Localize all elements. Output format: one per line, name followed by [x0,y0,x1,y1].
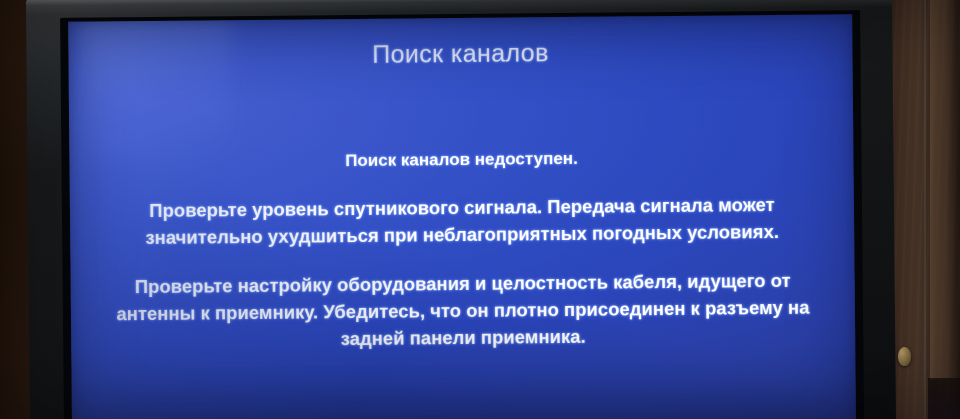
door-knob-icon [898,347,911,366]
message-body: Поиск каналов недоступен. Проверьте уров… [99,145,825,355]
help-paragraph-signal: Проверьте уровень спутникового сигнала. … [100,191,824,252]
page-title: Поиск каналов [68,36,852,73]
primary-status-message: Поиск каналов недоступен. [99,145,823,176]
television: Поиск каналов Поиск каналов недоступен. … [26,0,896,419]
receiver-ui: Поиск каналов Поиск каналов недоступен. … [68,14,856,419]
tv-screen: Поиск каналов Поиск каналов недоступен. … [68,14,856,419]
wood-panel-edge [924,0,926,419]
help-paragraph-cable: Проверьте настройку оборудования и целос… [101,267,826,355]
photo-scene: Поиск каналов Поиск каналов недоступен. … [0,0,960,419]
wood-panel-shadow [928,378,960,419]
wood-panel-highlight [930,0,958,380]
